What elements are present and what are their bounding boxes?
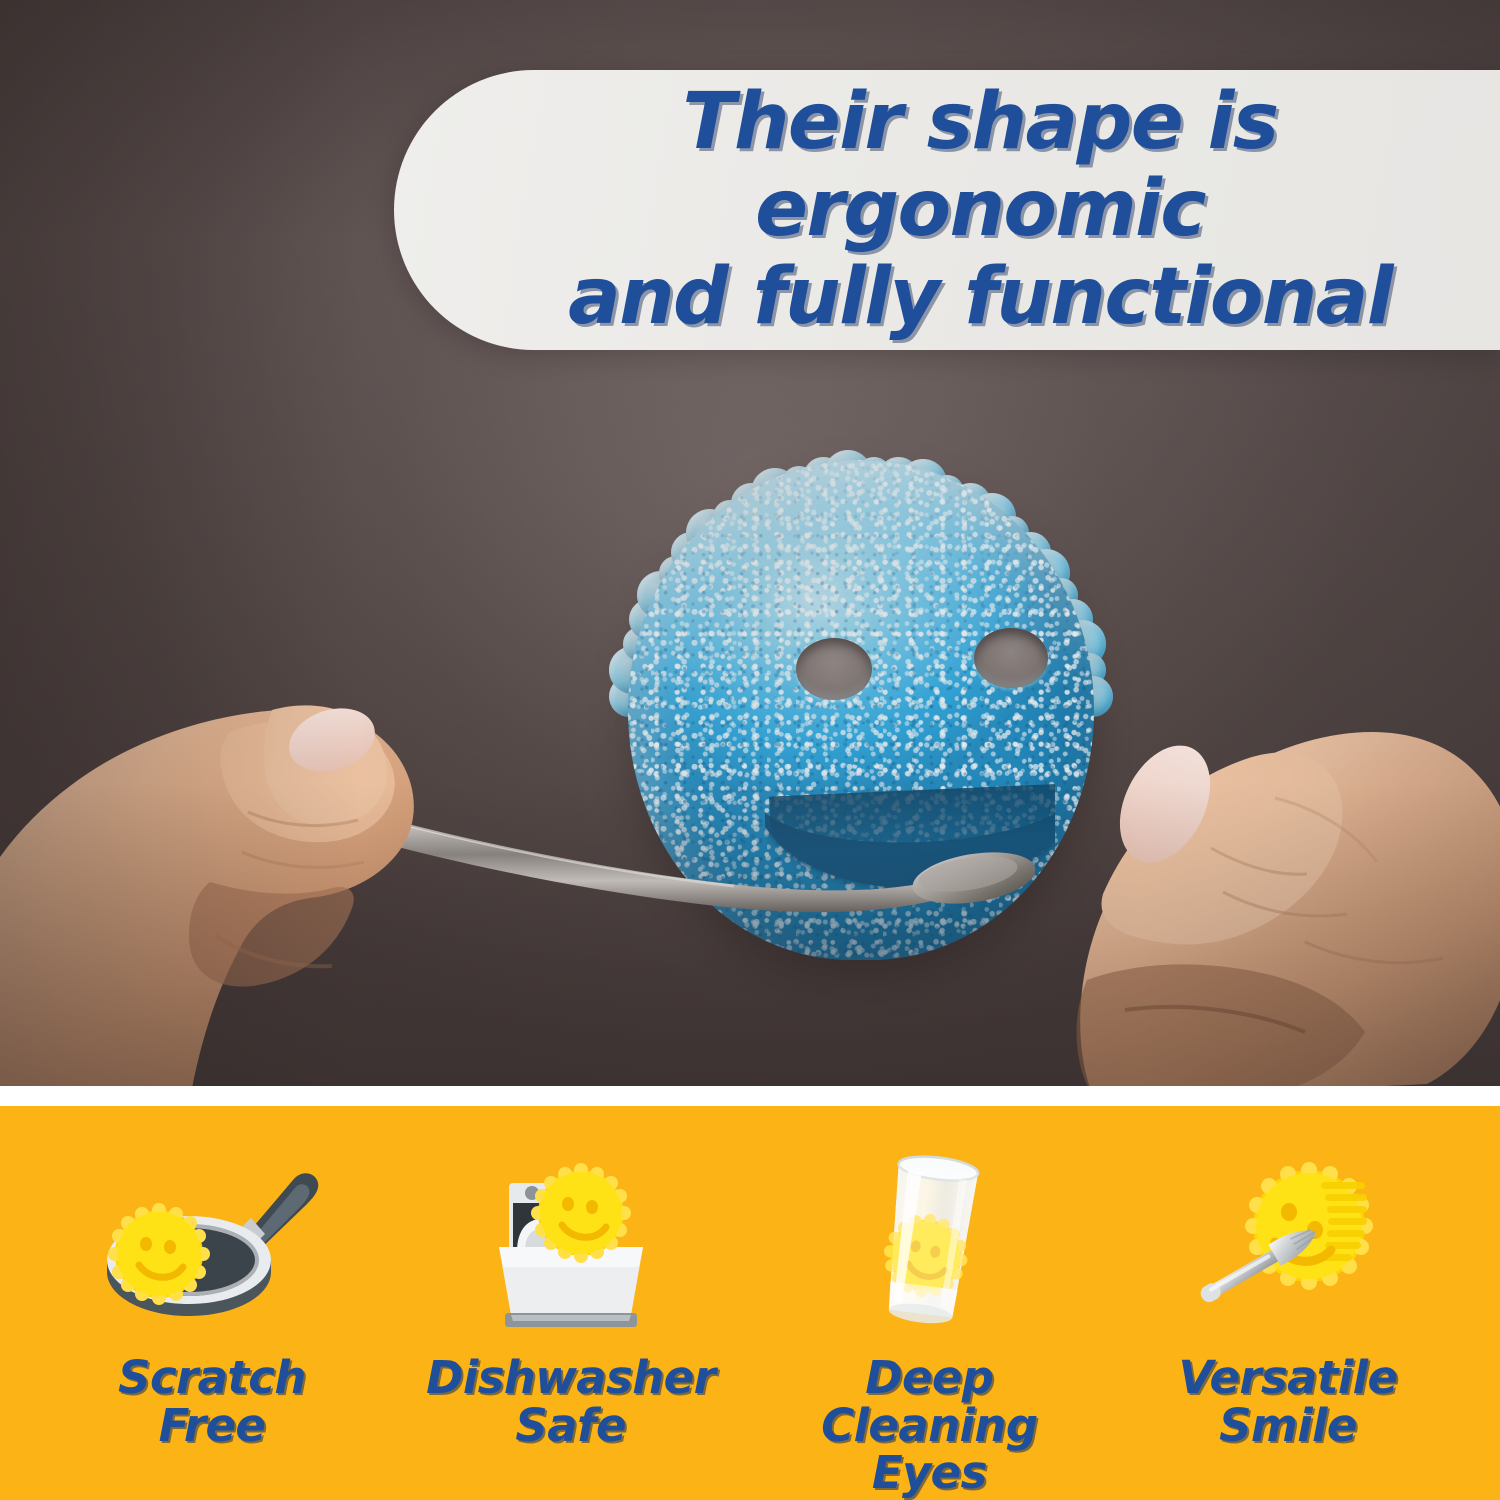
feature-label-line1: Dishwasher [426,1351,715,1404]
feature-label: Dishwasher Safe [426,1354,715,1449]
sponge-in-frying-pan-icon [36,1152,388,1338]
feature-list: Scratch Free [0,1106,1500,1500]
sponge-in-dishwasher-icon [395,1152,747,1338]
section-divider [0,1086,1500,1106]
product-feature-image: Scratch Free [0,0,1500,1500]
headline-banner: Their shape is ergonomic and fully funct… [394,70,1500,350]
feature-label-line2: Free [159,1399,266,1452]
sponge-in-drinking-glass-icon [753,1152,1105,1338]
feature-deep-cleaning-eyes: Deep Cleaning Eyes [753,1152,1105,1497]
sponge-right-eye-hole [974,628,1048,688]
feature-label-line2: Safe [515,1399,625,1452]
feature-label-line1: Deep Cleaning [821,1351,1037,1452]
headline-line2: and fully functional [512,254,1448,341]
sponge-left-eye-hole [796,638,872,700]
left-hand [0,636,620,1086]
feature-label: Versatile Smile [1179,1354,1398,1449]
sponge-with-fork-icon [1112,1152,1464,1338]
feature-scratch-free: Scratch Free [36,1152,388,1449]
feature-label-line2: Eyes [872,1446,987,1499]
feature-label: Scratch Free [118,1354,306,1449]
feature-band: Scratch Free [0,1106,1500,1500]
page-title: Their shape is ergonomic and fully funct… [512,79,1448,341]
headline-line1: Their shape is ergonomic [682,77,1277,254]
feature-label: Deep Cleaning Eyes [753,1354,1105,1497]
feature-label-line1: Scratch [118,1351,306,1404]
feature-label-line1: Versatile [1179,1351,1398,1404]
blue-scrub-sponge [620,432,1102,992]
feature-label-line2: Smile [1219,1399,1357,1452]
feature-versatile-smile: Versatile Smile [1112,1152,1464,1449]
feature-dishwasher-safe: Dishwasher Safe [395,1152,747,1449]
sponge-smile-slot [765,784,1055,904]
